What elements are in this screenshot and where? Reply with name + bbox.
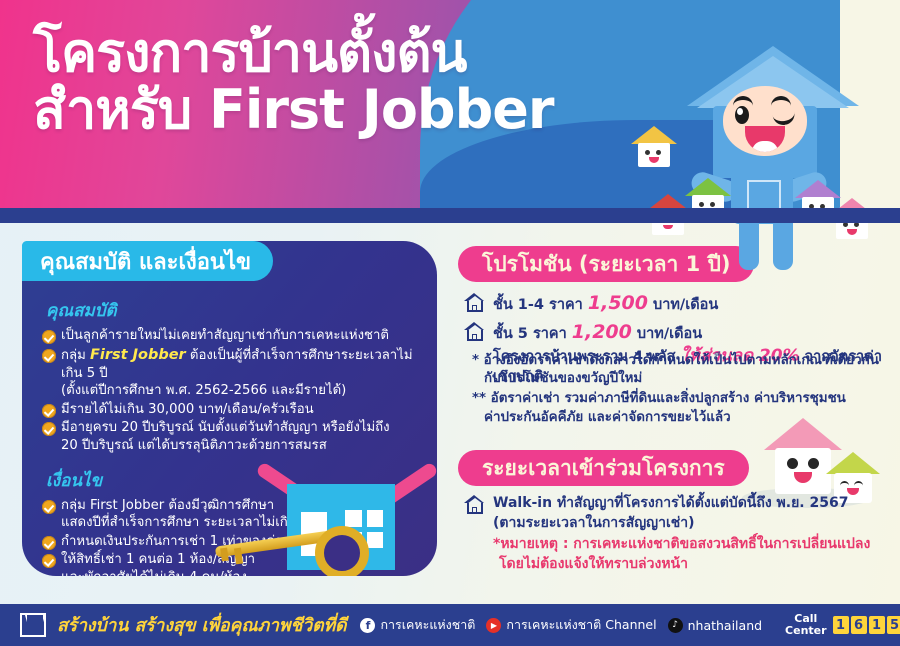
footer-bar: สร้างบ้าน สร้างสุข เพื่อคุณภาพชีวิตที่ดี… [0, 604, 900, 646]
call-digit: 1 [869, 616, 885, 634]
social-tiktok[interactable]: ♪ nhathailand [668, 618, 762, 633]
card-header-tab: คุณสมบัติ และเงื่อนไข [22, 241, 273, 281]
social-links: f การเคหะแห่งชาติ ▶ การเคหะแห่งชาติ Chan… [360, 615, 762, 635]
facebook-icon: f [360, 618, 375, 633]
period-text: Walk-in ทำสัญญาที่โครงการได้ตั้งแต่บัดนี… [493, 493, 870, 574]
call-center: Call Center 1 6 1 5 [785, 613, 900, 636]
list-item-continuation: (ตั้งแต่ปีการศึกษา พ.ศ. 2562-2566 และมีร… [61, 382, 423, 400]
house-mascot-icon: > < [635, 8, 875, 240]
promotion-row: ชั้น 1-4 ราคา 1,500 บาท/เดือน [458, 291, 900, 316]
promotion-row-label: ชั้น 5 ราคา 1,200 บาท/เดือน [493, 320, 702, 345]
note-item: ** อัตราค่าเช่า รวมค่าภาษีที่ดินและสิ่งป… [472, 390, 886, 426]
period-section: ระยะเวลาเข้าร่วมโครงการ Walk-in ทำสัญญาท… [458, 450, 870, 574]
promotion-pill-label: โปรโมชัน (ระยะเวลา 1 ปี) [482, 248, 730, 281]
qualifications-heading: คุณสมบัติ [46, 297, 423, 324]
note-line-2: กับโปรโมชันของขวัญปีใหม่ [472, 370, 886, 388]
mascot-leg-left [739, 222, 759, 270]
period-warning-2: โดยไม่ต้องแจ้งให้ทราบล่วงหน้า [493, 554, 870, 574]
house-outline-icon [464, 293, 485, 312]
social-youtube[interactable]: ▶ การเคหะแห่งชาติ Channel [486, 615, 656, 635]
check-icon [42, 404, 56, 418]
promotion-row: ชั้น 5 ราคา 1,200 บาท/เดือน [458, 320, 900, 345]
navy-divider [0, 208, 900, 223]
period-pill-label: ระยะเวลาเข้าร่วมโครงการ [482, 452, 725, 485]
nha-logo-icon [20, 613, 46, 637]
check-icon [42, 349, 56, 363]
social-label: nhathailand [688, 618, 762, 633]
title-line-2: สำหรับ First Jobber [33, 81, 554, 138]
page-title: โครงการบ้านตั้งต้น สำหรับ First Jobber [33, 24, 554, 138]
house-key-illustration [253, 438, 433, 576]
period-pill: ระยะเวลาเข้าร่วมโครงการ [458, 450, 749, 486]
key-ring-icon [315, 526, 369, 576]
mascot-chest-logo [747, 180, 781, 210]
promotion-row-label: ชั้น 1-4 ราคา 1,500 บาท/เดือน [493, 291, 718, 316]
list-item-label: มีอายุครบ 20 ปีบริบูรณ์ นับตั้งแต่วันทำส… [61, 419, 390, 437]
infographic-poster: โครงการบ้านตั้งต้น สำหรับ First Jobber >… [0, 0, 900, 646]
list-item-label: มีรายได้ไม่เกิน 30,000 บาท/เดือน/ครัวเรื… [61, 401, 314, 419]
period-warning-1: *หมายเหตุ : การเคหะแห่งชาติขอสงวนสิทธิ์ใ… [493, 534, 870, 554]
period-row: Walk-in ทำสัญญาที่โครงการได้ตั้งแต่บัดนี… [458, 493, 870, 574]
social-facebook[interactable]: f การเคหะแห่งชาติ [360, 615, 475, 635]
period-sub: (ตามระยะเวลาในการสัญญาเช่า) [493, 513, 870, 533]
promotion-notes: * อ้างอิงอัตราค่าเช่าดังกล่าวได้กำหนดให้… [472, 352, 886, 429]
list-item: มีรายได้ไม่เกิน 30,000 บาท/เดือน/ครัวเรื… [42, 401, 423, 419]
list-item-label: กลุ่ม First Jobber ต้องเป็นผู้ที่สำเร็จก… [61, 346, 423, 383]
period-main: Walk-in ทำสัญญาที่โครงการได้ตั้งแต่บัดนี… [493, 495, 848, 511]
small-house-yellow-icon [631, 126, 677, 168]
youtube-icon: ▶ [486, 618, 501, 633]
list-item: เป็นลูกค้ารายใหม่ไม่เคยทำสัญญาเช่ากับการ… [42, 327, 423, 345]
tiktok-icon: ♪ [668, 618, 683, 633]
footer-slogan: สร้างบ้าน สร้างสุข เพื่อคุณภาพชีวิตที่ดี [57, 611, 346, 639]
qualifications-card: คุณสมบัติ เป็นลูกค้ารายใหม่ไม่เคยทำสัญญา… [22, 241, 437, 576]
social-label: การเคหะแห่งชาติ Channel [506, 615, 656, 635]
promotion-pill: โปรโมชัน (ระยะเวลา 1 ปี) [458, 246, 754, 282]
title-line-1: โครงการบ้านตั้งต้น [33, 24, 554, 81]
note-line-1: ** อัตราค่าเช่า รวมค่าภาษีที่ดินและสิ่งป… [472, 391, 846, 406]
call-digit: 1 [833, 616, 849, 634]
check-icon [42, 422, 56, 436]
mascot-leg-right [773, 222, 793, 270]
note-line-1: * อ้างอิงอัตราค่าเช่าดังกล่าวได้กำหนดให้… [472, 353, 879, 368]
call-label-line2: Center [785, 625, 827, 637]
call-center-label: Call Center [785, 613, 827, 636]
call-digit: 6 [851, 616, 867, 634]
note-item: * อ้างอิงอัตราค่าเช่าดังกล่าวได้กำหนดให้… [472, 352, 886, 388]
house-outline-icon [464, 495, 485, 514]
mascot-eye-left [735, 106, 749, 124]
call-digit: 5 [887, 616, 900, 634]
call-center-number: 1 6 1 5 [833, 616, 900, 634]
list-item-label: กลุ่ม First Jobber ต้องมีวุฒิการศึกษา [61, 497, 274, 515]
check-icon [42, 500, 56, 514]
check-icon [42, 536, 56, 550]
social-label: การเคหะแห่งชาติ [380, 615, 475, 635]
list-item-label: เป็นลูกค้ารายใหม่ไม่เคยทำสัญญาเช่ากับการ… [61, 327, 389, 345]
note-line-2: ค่าประกันอัคคีภัย และค่าจัดการขยะไว้แล้ว [472, 409, 886, 427]
check-icon [42, 554, 56, 568]
list-item: มีอายุครบ 20 ปีบริบูรณ์ นับตั้งแต่วันทำส… [42, 419, 423, 437]
house-outline-icon [464, 322, 485, 341]
card-header-label: คุณสมบัติ และเงื่อนไข [40, 244, 251, 279]
check-icon [42, 330, 56, 344]
list-item: กลุ่ม First Jobber ต้องเป็นผู้ที่สำเร็จก… [42, 346, 423, 383]
